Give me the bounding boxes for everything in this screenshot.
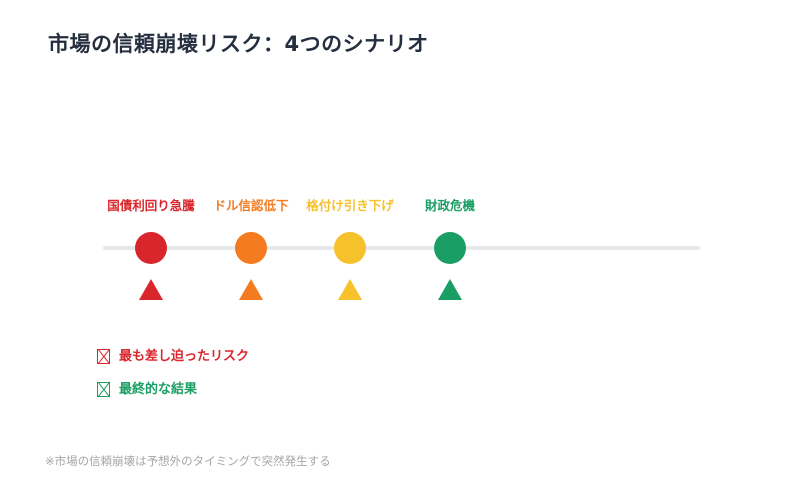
missing-glyph-box-icon [97, 382, 110, 397]
timeline-node-1-triangle-marker [139, 279, 163, 300]
legend-item-final-outcome: 最終的な結果 [97, 379, 249, 400]
timeline-node-4-circle-marker [434, 232, 466, 264]
timeline-node-4-label: 財政危機 [425, 200, 475, 213]
footnote: ※市場の信頼崩壊は予想外のタイミングで突然発生する [45, 456, 331, 468]
timeline-axis-line [103, 246, 700, 250]
timeline-node-3-circle-marker [334, 232, 366, 264]
timeline-node-2-circle-marker [235, 232, 267, 264]
timeline-node-3-triangle-marker [338, 279, 362, 300]
missing-glyph-box-icon [97, 349, 110, 364]
timeline-node-3-label: 格付け引き下げ [306, 200, 394, 213]
legend-item-imminent-risk: 最も差し迫ったリスク [97, 346, 249, 367]
timeline-node-2-triangle-marker [239, 279, 263, 300]
slide-canvas: 市場の信頼崩壊リスク：4つのシナリオ 国債利回り急騰 ドル信認低下 格付け引き下… [0, 0, 800, 500]
timeline-node-4-triangle-marker [438, 279, 462, 300]
timeline-node-2-label: ドル信認低下 [213, 200, 288, 213]
legend-item-final-outcome-label: 最終的な結果 [119, 383, 197, 396]
timeline-node-1-circle-marker [135, 232, 167, 264]
legend: 最も差し迫ったリスク 最終的な結果 [97, 346, 249, 412]
timeline-node-1-label: 国債利回り急騰 [107, 200, 195, 213]
risk-timeline: 国債利回り急騰 ドル信認低下 格付け引き下げ 財政危機 [0, 0, 800, 500]
legend-item-imminent-risk-label: 最も差し迫ったリスク [119, 350, 249, 363]
